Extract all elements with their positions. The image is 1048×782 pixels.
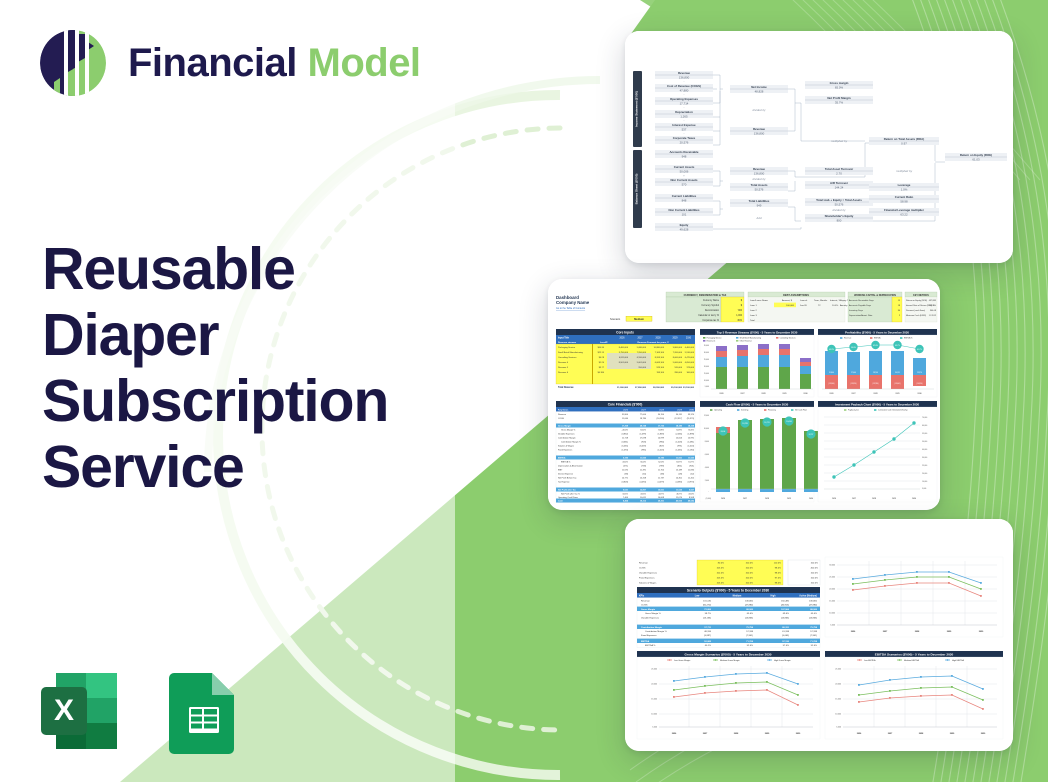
svg-text:Revenue: Revenue bbox=[639, 563, 649, 565]
svg-text:2030: 2030 bbox=[689, 409, 695, 411]
svg-text:43.5%: 43.5% bbox=[640, 494, 646, 496]
node-current-assets: Current Assets 50,006 bbox=[655, 165, 713, 173]
svg-text:EBITDA: EBITDA bbox=[641, 640, 650, 643]
svg-text:Return on Equity (ROE): Return on Equity (ROE) bbox=[906, 299, 927, 302]
svg-text:144.24: 144.24 bbox=[835, 185, 844, 189]
svg-text:Loan 2: Loan 2 bbox=[750, 310, 757, 312]
svg-text:$60.30: $60.30 bbox=[598, 347, 605, 349]
svg-text:CURRENCY, DENOMINATION & TAX: CURRENCY, DENOMINATION & TAX bbox=[684, 294, 727, 297]
svg-text:(1,003): (1,003) bbox=[676, 442, 683, 444]
svg-text:2028: 2028 bbox=[761, 393, 765, 395]
dashboard-canvas: Dashboard Company Name Go to the Table o… bbox=[548, 279, 940, 510]
brand-name-secondary: Model bbox=[308, 41, 421, 85]
svg-text:65.6%: 65.6% bbox=[688, 430, 694, 432]
svg-text:divided by: divided by bbox=[832, 208, 846, 212]
svg-text:7,950,000: 7,950,000 bbox=[637, 352, 647, 354]
svg-text:Medium EBITDA: Medium EBITDA bbox=[904, 659, 920, 662]
svg-text:27,800,000: 27,800,000 bbox=[635, 387, 647, 389]
page-title-line-4: Service bbox=[42, 434, 452, 500]
svg-text:$4.180: $4.180 bbox=[598, 372, 605, 374]
svg-text:Core Inputs: Core Inputs bbox=[616, 330, 634, 334]
svg-text:31,000,000: 31,000,000 bbox=[617, 387, 629, 389]
svg-text:Revenue 5: Revenue 5 bbox=[558, 367, 569, 369]
svg-text:43.0%: 43.0% bbox=[688, 494, 694, 496]
svg-text:Financing: Financing bbox=[768, 410, 776, 412]
connector-multiplied-by: multiplied by bbox=[831, 139, 848, 143]
svg-text:20,000: 20,000 bbox=[922, 473, 927, 475]
node-financial-leverage-multiplier: Financial Leverage multiplier 63.22 bbox=[869, 208, 939, 216]
chart-investment-payback: Investment Payback Chart ($'000) - 5 Yea… bbox=[818, 401, 937, 502]
svg-text:Revenue 4: Revenue 4 bbox=[707, 341, 716, 343]
svg-text:Launch: Launch bbox=[800, 300, 808, 302]
svg-text:DEBT ASSUMPTIONS: DEBT ASSUMPTIONS bbox=[783, 294, 809, 297]
svg-text:(38): (38) bbox=[624, 474, 628, 476]
svg-text:27,000: 27,000 bbox=[851, 372, 856, 374]
svg-text:20,000: 20,000 bbox=[829, 589, 835, 591]
svg-text:11,391: 11,391 bbox=[640, 470, 647, 472]
svg-text:8,400,000: 8,400,000 bbox=[619, 347, 629, 349]
svg-text:100.0%: 100.0% bbox=[746, 578, 753, 580]
svg-text:71,708: 71,708 bbox=[810, 641, 817, 643]
svg-text:2027: 2027 bbox=[740, 393, 744, 395]
chart-top-5-revenue-streams: Top 5 Revenue Streams ($'000) - 5 Years … bbox=[700, 329, 814, 397]
svg-text:Packaging Service: Packaging Service bbox=[558, 346, 576, 349]
svg-text:100.0%: 100.0% bbox=[746, 568, 753, 570]
svg-text:57,711: 57,711 bbox=[704, 627, 711, 629]
svg-text:950,000: 950,000 bbox=[638, 367, 646, 369]
svg-text:75,758: 75,758 bbox=[746, 627, 753, 629]
svg-text:Core Financials ($'000): Core Financials ($'000) bbox=[608, 402, 643, 406]
scenario-analysis-screenshot[interactable]: Revenue COGS Variable Expenses Fixed Exp… bbox=[625, 519, 1013, 751]
svg-text:Other Revenue: Other Revenue bbox=[740, 340, 752, 343]
svg-text:(7,901): (7,901) bbox=[746, 635, 753, 637]
svg-text:Operating: Operating bbox=[714, 409, 722, 412]
svg-text:Discount (cash flows): Discount (cash flows) bbox=[906, 309, 925, 312]
dupont-analysis-diagram-screenshot[interactable]: Income Statement ($'000) Balance Sheet (… bbox=[625, 31, 1013, 263]
svg-text:198,100: 198,100 bbox=[656, 372, 664, 374]
svg-text:12,000: 12,000 bbox=[704, 415, 709, 417]
svg-text:60,000: 60,000 bbox=[922, 425, 927, 427]
svg-text:Revenue streams: Revenue streams bbox=[558, 341, 577, 344]
svg-text:Depreciation/Amort. Rate: Depreciation/Amort. Rate bbox=[849, 314, 873, 317]
svg-text:(5,065): (5,065) bbox=[622, 446, 629, 448]
svg-text:34.5%: 34.5% bbox=[622, 494, 628, 496]
svg-text:341.9%: 341.9% bbox=[929, 305, 936, 307]
svg-text:EBITDA %: EBITDA % bbox=[561, 461, 571, 464]
microsoft-excel-icon[interactable]: X bbox=[33, 665, 125, 757]
node-accounts-receivable: Accounts Receivable 948 bbox=[655, 150, 713, 158]
svg-text:70,000: 70,000 bbox=[922, 417, 927, 419]
svg-text:928,100: 928,100 bbox=[656, 367, 664, 369]
svg-text:8,000,000: 8,000,000 bbox=[673, 357, 683, 359]
node-shareholders-equity: Shareholder's Equity 800 bbox=[805, 214, 873, 222]
svg-text:2027: 2027 bbox=[743, 498, 747, 500]
svg-text:-: - bbox=[684, 119, 685, 123]
svg-text:2,000: 2,000 bbox=[705, 480, 709, 482]
svg-text:2029: 2029 bbox=[895, 393, 899, 395]
svg-text:52,085: 52,085 bbox=[704, 641, 711, 643]
node-net-profit-margin: Net Profit Margin 35.7% bbox=[805, 96, 873, 104]
svg-text:10,239: 10,239 bbox=[742, 423, 748, 425]
svg-text:80.0%: 80.0% bbox=[718, 563, 724, 565]
svg-text:$3.77: $3.77 bbox=[599, 367, 605, 369]
svg-text:17,098: 17,098 bbox=[640, 438, 647, 440]
svg-text:Contribution Margin: Contribution Margin bbox=[558, 437, 575, 440]
node-depreciation: Depreciation 1,265 bbox=[655, 110, 713, 118]
svg-text:15,000: 15,000 bbox=[651, 699, 657, 701]
dashboard-overview-screenshot[interactable]: Dashboard Company Name Go to the Table o… bbox=[548, 279, 940, 510]
svg-text:100,000: 100,000 bbox=[786, 305, 795, 307]
svg-text:57.0%: 57.0% bbox=[783, 645, 789, 647]
svg-text:Loan 3: Loan 3 bbox=[750, 315, 757, 317]
svg-text:17,268: 17,268 bbox=[622, 426, 629, 428]
svg-text:Amount, $: Amount, $ bbox=[782, 299, 793, 302]
svg-text:35,000: 35,000 bbox=[704, 345, 709, 347]
svg-text:9,800,000: 9,800,000 bbox=[673, 347, 683, 349]
svg-text:6,475,600: 6,475,600 bbox=[685, 357, 695, 359]
svg-text:35.7%: 35.7% bbox=[835, 100, 844, 104]
svg-text:(46,915): (46,915) bbox=[781, 605, 789, 607]
svg-text:18,312: 18,312 bbox=[640, 501, 647, 503]
svg-text:98.0%: 98.0% bbox=[775, 568, 781, 570]
svg-text:Packaging Service: Packaging Service bbox=[707, 338, 722, 340]
svg-text:(13,560): (13,560) bbox=[829, 383, 835, 385]
svg-text:(903): (903) bbox=[641, 442, 646, 444]
svg-text:Annuity: Annuity bbox=[840, 304, 848, 307]
svg-text:100.0%: 100.0% bbox=[811, 563, 818, 565]
svg-text:56.0%: 56.0% bbox=[851, 347, 856, 349]
svg-text:Investing: Investing bbox=[741, 409, 748, 412]
svg-text:5,000: 5,000 bbox=[705, 386, 709, 388]
svg-text:Interest, %: Interest, % bbox=[830, 299, 841, 302]
svg-text:344.08: 344.08 bbox=[930, 310, 937, 312]
svg-text:High Gross Margin: High Gross Margin bbox=[774, 660, 791, 662]
svg-text:5,000,000: 5,000,000 bbox=[673, 362, 683, 364]
svg-text:56.0%: 56.0% bbox=[640, 462, 646, 464]
google-sheets-icon[interactable] bbox=[157, 665, 249, 757]
svg-text:(901): (901) bbox=[689, 466, 694, 468]
svg-text:28,728: 28,728 bbox=[640, 426, 647, 428]
svg-text:2026: 2026 bbox=[619, 337, 625, 339]
panel-debt-assumptions: DEBT ASSUMPTIONS Loan/Lease Name Amount,… bbox=[748, 292, 852, 322]
svg-text:2028: 2028 bbox=[765, 498, 769, 500]
svg-text:Medium: Medium bbox=[733, 596, 742, 598]
svg-text:2029: 2029 bbox=[672, 337, 678, 339]
svg-text:10,000: 10,000 bbox=[829, 613, 835, 615]
svg-text:(13,136): (13,136) bbox=[703, 618, 711, 620]
svg-text:Go to the Table of Contents: Go to the Table of Contents bbox=[556, 307, 586, 310]
svg-text:2030: 2030 bbox=[917, 393, 921, 395]
svg-text:9,607: 9,607 bbox=[689, 490, 695, 492]
svg-text:136,800: 136,800 bbox=[754, 171, 765, 175]
svg-text:(13,780): (13,780) bbox=[873, 383, 879, 385]
node-revenue-2: Revenue 136,800 bbox=[730, 127, 788, 135]
svg-text:(50,270): (50,270) bbox=[703, 605, 711, 607]
svg-text:Medium Gross Margin: Medium Gross Margin bbox=[720, 660, 740, 662]
svg-text:COGS: COGS bbox=[558, 418, 565, 420]
svg-text:+: + bbox=[683, 174, 685, 178]
svg-text:48,196: 48,196 bbox=[704, 631, 711, 633]
svg-text:10,711: 10,711 bbox=[764, 422, 769, 424]
svg-text:Consulting Services: Consulting Services bbox=[558, 356, 576, 359]
svg-text:Accounts Payable Days: Accounts Payable Days bbox=[849, 304, 871, 307]
chart-ebitda-scenarios: EBITDA Scenarios ($'000) - 5 Years to De… bbox=[825, 651, 1003, 739]
svg-text:800: 800 bbox=[837, 218, 842, 222]
svg-text:46.7%: 46.7% bbox=[676, 494, 682, 496]
svg-text:136,800: 136,800 bbox=[809, 601, 818, 603]
svg-text:-: - bbox=[684, 93, 685, 97]
svg-text:97.0%: 97.0% bbox=[775, 578, 781, 580]
svg-text:20,000: 20,000 bbox=[704, 366, 709, 368]
svg-text:Term, Months: Term, Months bbox=[814, 299, 828, 302]
node-operating-expenses: Operating Expenses 17,714 bbox=[655, 97, 713, 105]
svg-text:Variable Expenses: Variable Expenses bbox=[641, 617, 660, 620]
svg-text:30%: 30% bbox=[737, 320, 742, 322]
svg-text:63.8%: 63.8% bbox=[658, 430, 664, 432]
scenario-canvas: Revenue COGS Variable Expenses Fixed Exp… bbox=[625, 519, 1013, 751]
svg-text:15,000: 15,000 bbox=[829, 601, 835, 603]
svg-text:150,480: 150,480 bbox=[781, 601, 790, 603]
svg-text:(11,373): (11,373) bbox=[687, 418, 695, 420]
svg-text:10,011: 10,011 bbox=[640, 497, 647, 499]
svg-text:64.9%: 64.9% bbox=[676, 430, 682, 432]
svg-text:Gross Margin %: Gross Margin % bbox=[645, 612, 661, 615]
node-return-on-equity: Return on Equity (ROE) 61.03 bbox=[945, 153, 1007, 161]
svg-text:Operating Cash Flows: Operating Cash Flows bbox=[558, 496, 578, 499]
svg-text:5,000: 5,000 bbox=[922, 488, 926, 490]
svg-text:2030: 2030 bbox=[686, 337, 692, 339]
svg-text:Low: Low bbox=[695, 596, 700, 598]
svg-text:57,198: 57,198 bbox=[810, 631, 817, 633]
svg-text:131,130: 131,130 bbox=[703, 601, 712, 603]
svg-text:520,000: 520,000 bbox=[674, 367, 682, 369]
svg-text:105.0%: 105.0% bbox=[717, 578, 724, 580]
svg-text:Total Revenue: Total Revenue bbox=[558, 386, 574, 389]
svg-text:EBITDA Scenarios ($'000) - 5 Y: EBITDA Scenarios ($'000) - 5 Years to De… bbox=[875, 652, 954, 656]
svg-text:(1,099): (1,099) bbox=[640, 434, 647, 436]
svg-text:(5,663): (5,663) bbox=[782, 635, 789, 637]
svg-text:Fixed Expenses: Fixed Expenses bbox=[639, 578, 655, 580]
svg-text:Company Name: Company Name bbox=[556, 300, 590, 305]
svg-text:8,901,000: 8,901,000 bbox=[619, 362, 629, 364]
svg-text:25,000: 25,000 bbox=[704, 359, 709, 361]
node-revenue: Revenue 136,800 bbox=[655, 71, 713, 79]
svg-text:Interest Expense: Interest Expense bbox=[558, 473, 574, 476]
svg-text:6,000: 6,000 bbox=[705, 454, 709, 456]
section-spine-balance-sheet: Balance Sheet ($'000) bbox=[633, 150, 642, 228]
svg-text:10,000: 10,000 bbox=[704, 380, 709, 382]
scenario-svg: Revenue COGS Variable Expenses Fixed Exp… bbox=[625, 519, 1013, 751]
node-total-liabilities: Total Liabilities 949 bbox=[730, 199, 788, 207]
svg-text:40.1%: 40.1% bbox=[705, 645, 711, 647]
svg-text:25,000: 25,000 bbox=[922, 465, 927, 467]
svg-text:Small Batch Manufacturing: Small Batch Manufacturing bbox=[740, 337, 761, 340]
svg-text:Revenue 6: Revenue 6 bbox=[558, 372, 569, 374]
svg-text:Total: Total bbox=[750, 319, 755, 322]
svg-text:Denomination: Denomination bbox=[705, 309, 720, 312]
svg-text:57,198: 57,198 bbox=[746, 631, 753, 633]
svg-text:Revenue: Revenue bbox=[844, 338, 851, 340]
svg-text:15,189: 15,189 bbox=[676, 470, 683, 472]
svg-text:2030: 2030 bbox=[803, 393, 807, 395]
svg-text:Contribution Margin %: Contribution Margin % bbox=[561, 441, 581, 444]
svg-text:15,318: 15,318 bbox=[640, 478, 647, 480]
svg-text:2027: 2027 bbox=[852, 498, 856, 500]
svg-text:5,000: 5,000 bbox=[830, 625, 835, 627]
svg-text:Low Gross Margin: Low Gross Margin bbox=[674, 660, 690, 662]
svg-text:Revenue: Revenue bbox=[641, 601, 651, 603]
svg-text:18,780: 18,780 bbox=[640, 418, 647, 420]
svg-text:8,404: 8,404 bbox=[623, 500, 629, 503]
svg-text:Revenue 4: Revenue 4 bbox=[558, 362, 569, 364]
node-cost-of-revenue: Cost of Revenue (COGS) 47,880 bbox=[655, 84, 713, 92]
svg-text:72,260: 72,260 bbox=[704, 609, 711, 611]
svg-text:25,000: 25,000 bbox=[835, 669, 841, 671]
svg-text:11,452: 11,452 bbox=[688, 478, 695, 480]
svg-text:10,000: 10,000 bbox=[651, 714, 657, 716]
page-title-line-1: Reusable bbox=[42, 236, 452, 302]
svg-text:33,370: 33,370 bbox=[688, 414, 695, 416]
svg-text:11,718: 11,718 bbox=[622, 438, 629, 440]
svg-text:-: - bbox=[684, 80, 685, 84]
svg-text:3,750,000: 3,750,000 bbox=[619, 352, 629, 354]
svg-text:48,082: 48,082 bbox=[688, 500, 695, 503]
panel-working-capital-depreciation: WORKING CAPITAL & DEPRECIATION Accounts … bbox=[848, 292, 902, 322]
svg-text:28,300,000: 28,300,000 bbox=[653, 387, 665, 389]
svg-text:2028: 2028 bbox=[872, 498, 876, 500]
svg-text:4,400,000: 4,400,000 bbox=[685, 347, 695, 349]
svg-text:Inventory Days: Inventory Days bbox=[849, 309, 863, 312]
svg-text:848: 848 bbox=[682, 198, 687, 202]
svg-text:948: 948 bbox=[682, 154, 687, 158]
svg-text:100.0%: 100.0% bbox=[746, 573, 753, 575]
panel-currency-denomination-tax: CURRENCY, DENOMINATION & TAX Currency Na… bbox=[666, 292, 744, 322]
left-content-panel: Financial Model Reusable Diaper Subscrip… bbox=[0, 0, 470, 782]
svg-text:Depreciation & Amortisation: Depreciation & Amortisation bbox=[558, 465, 583, 468]
pie-bar-chart-icon bbox=[34, 24, 112, 102]
svg-text:2028: 2028 bbox=[655, 337, 661, 339]
svg-text:8,404: 8,404 bbox=[721, 431, 726, 433]
svg-text:7,108,100: 7,108,100 bbox=[655, 352, 665, 354]
svg-text:(4,079): (4,079) bbox=[658, 482, 665, 484]
svg-text:Key Items: Key Items bbox=[558, 408, 569, 411]
dupont-diagram-canvas: Income Statement ($'000) Balance Sheet (… bbox=[625, 31, 1013, 263]
svg-text:Cash Flow ($'000) - 5 Years to: Cash Flow ($'000) - 5 Years to December … bbox=[726, 402, 789, 406]
svg-text:373,000: 373,000 bbox=[686, 367, 694, 369]
svg-text:7,200,000: 7,200,000 bbox=[673, 352, 683, 354]
node-current-liabilities: Current Liabilities 848 bbox=[655, 194, 713, 202]
svg-text:23,370: 23,370 bbox=[917, 372, 922, 374]
node-corporate-taxes: Corporate Taxes 20,576 bbox=[655, 136, 713, 144]
svg-text:(13,865): (13,865) bbox=[781, 618, 789, 620]
svg-text:Top 5 Revenue Streams ($'000): Top 5 Revenue Streams ($'000) - 5 Years … bbox=[717, 330, 798, 334]
svg-text:400.0%: 400.0% bbox=[811, 568, 818, 570]
svg-text:9,021: 9,021 bbox=[623, 490, 629, 492]
svg-text:Payback year: Payback year bbox=[848, 410, 859, 412]
svg-text:25,000: 25,000 bbox=[651, 669, 657, 671]
node-ar-turnover: A/R Turnover 144.24 bbox=[805, 181, 873, 189]
dashboard-svg: Dashboard Company Name Go to the Table o… bbox=[548, 279, 940, 510]
svg-text:2029: 2029 bbox=[677, 409, 683, 411]
svg-text:107,566: 107,566 bbox=[781, 609, 790, 611]
svg-text:75,758: 75,758 bbox=[810, 627, 817, 629]
svg-text:20,000: 20,000 bbox=[651, 684, 657, 686]
node-current-ratio: Current Ratio 58.98 bbox=[869, 195, 939, 203]
svg-text:(2,000): (2,000) bbox=[706, 498, 712, 500]
svg-text:2026: 2026 bbox=[829, 393, 833, 395]
node-interest-expense: Interest Expense 537 bbox=[655, 123, 713, 131]
svg-text:100.0%: 100.0% bbox=[746, 583, 753, 585]
svg-text:2030: 2030 bbox=[809, 498, 813, 500]
svg-text:Salaries & Wages: Salaries & Wages bbox=[639, 582, 657, 585]
svg-text:Active (Medium): Active (Medium) bbox=[799, 595, 817, 598]
svg-text:2028: 2028 bbox=[873, 393, 877, 395]
svg-text:30,131: 30,131 bbox=[895, 372, 900, 374]
svg-text:6,590,000: 6,590,000 bbox=[637, 357, 647, 359]
svg-text:Minimum Cash (DSRI): Minimum Cash (DSRI) bbox=[906, 315, 926, 317]
node-leverage: Leverage 1.0% bbox=[869, 183, 939, 191]
svg-text:71,708: 71,708 bbox=[746, 641, 753, 643]
svg-text:Small Batch Manufacturing: Small Batch Manufacturing bbox=[558, 351, 584, 354]
svg-text:(28): (28) bbox=[678, 474, 682, 476]
svg-text:Level/$: Level/$ bbox=[600, 342, 608, 344]
svg-text:(571): (571) bbox=[623, 466, 628, 468]
svg-text:EBITDA %: EBITDA % bbox=[904, 337, 913, 340]
svg-text:Net Profit after Tax: Net Profit after Tax bbox=[558, 489, 577, 492]
svg-text:77,000: 77,000 bbox=[640, 414, 647, 416]
svg-text:63.7%: 63.7% bbox=[676, 462, 682, 464]
svg-text:11,920: 11,920 bbox=[688, 458, 695, 460]
connector-divided-by: divided by bbox=[752, 108, 766, 112]
svg-text:11,060: 11,060 bbox=[640, 458, 647, 460]
svg-text:Profitability ($'000) - 5 Year: Profitability ($'000) - 5 Years to Decem… bbox=[845, 330, 909, 334]
svg-text:Fixed Expenses: Fixed Expenses bbox=[641, 635, 657, 637]
svg-text:88,920: 88,920 bbox=[746, 609, 753, 611]
svg-text:10,608: 10,608 bbox=[658, 497, 665, 499]
svg-text:5,000: 5,000 bbox=[836, 727, 841, 729]
connector-add: Add bbox=[755, 216, 762, 220]
svg-text:437,885: 437,885 bbox=[929, 300, 937, 302]
svg-text:11,737: 11,737 bbox=[658, 478, 665, 480]
svg-text:-: - bbox=[684, 106, 685, 110]
brand-logo: Financial Model bbox=[34, 24, 421, 102]
svg-text:18,180: 18,180 bbox=[676, 426, 683, 428]
svg-text:Loan 1: Loan 1 bbox=[750, 305, 757, 307]
svg-text:11,001: 11,001 bbox=[676, 458, 683, 460]
svg-text:X: X bbox=[54, 694, 74, 727]
svg-text:50,576: 50,576 bbox=[755, 187, 764, 191]
svg-text:Salaries & Wages: Salaries & Wages bbox=[558, 446, 574, 448]
svg-text:Medium: Medium bbox=[634, 317, 644, 321]
panel-key-metrics: KEY METRICS Return on Equity (ROE) Inter… bbox=[905, 292, 937, 322]
svg-text:8,208,100: 8,208,100 bbox=[655, 357, 665, 359]
svg-text:divided by: divided by bbox=[752, 177, 766, 181]
brand-wordmark: Financial Model bbox=[128, 43, 421, 83]
svg-text:Currency Symbol: Currency Symbol bbox=[701, 304, 719, 307]
svg-text:WORKING CAPITAL & DEPRECIATION: WORKING CAPITAL & DEPRECIATION bbox=[854, 294, 896, 297]
svg-text:8,737: 8,737 bbox=[809, 434, 814, 436]
svg-text:Gross Margin: Gross Margin bbox=[641, 609, 656, 611]
svg-text:14,301: 14,301 bbox=[676, 478, 683, 480]
svg-text:COGS: COGS bbox=[641, 605, 648, 607]
svg-text:8,908: 8,908 bbox=[689, 497, 695, 499]
svg-text:15,991: 15,991 bbox=[688, 438, 695, 440]
svg-text:(13,863): (13,863) bbox=[809, 618, 817, 620]
svg-text:30,000: 30,000 bbox=[922, 457, 927, 459]
svg-text:(789): (789) bbox=[659, 466, 664, 468]
svg-text:11,592: 11,592 bbox=[622, 470, 629, 472]
svg-text:31,800: 31,800 bbox=[829, 372, 834, 374]
